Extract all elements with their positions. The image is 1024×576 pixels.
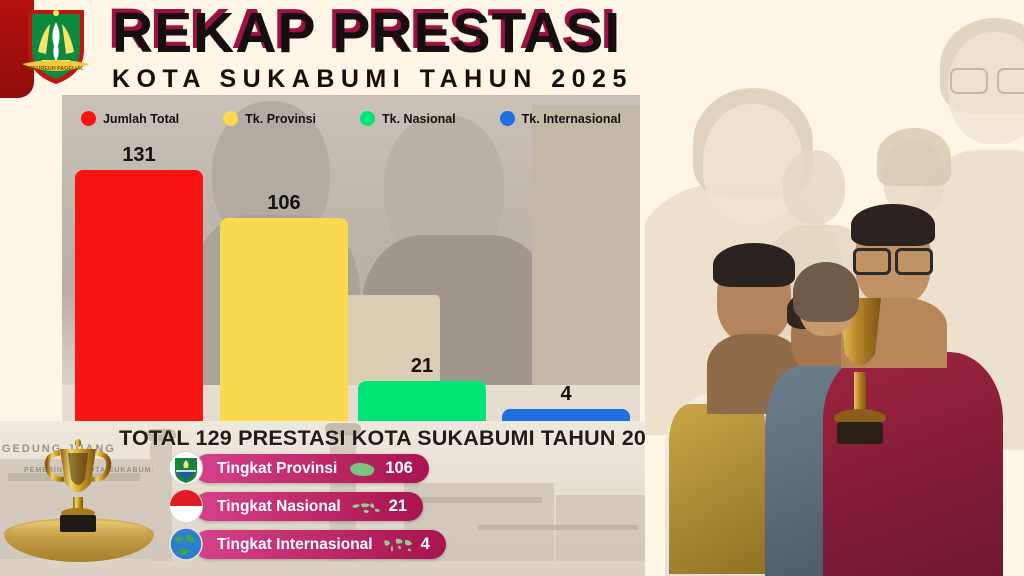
bar-value-label: 106: [220, 192, 348, 215]
world-map-icon: [383, 535, 413, 555]
poster-header: REKAP PRESTASI KOTA SUKABUMI TAHUN 2025: [112, 6, 682, 94]
page-subtitle: KOTA SUKABUMI TAHUN 2025: [112, 65, 682, 94]
summary-section: GEDUNG JUANG PEMERINTAH KOTA SUKABUMI: [0, 421, 645, 576]
ghost-glasses-left: [950, 68, 988, 94]
list-item: Tingkat Nasional 21: [167, 489, 567, 523]
infographic-poster: REUREUH PAGELUK REKAP PRESTASI KOTA SUKA…: [0, 0, 1024, 576]
pill-label: Tingkat Nasional: [194, 498, 341, 516]
achievement-rows: Tingkat Provinsi 106: [167, 451, 567, 565]
bar-value-label: 21: [358, 355, 486, 378]
page-title: REKAP PRESTASI: [112, 6, 682, 60]
award-ceremony-photo: [645, 0, 1024, 576]
bar-internasional: [502, 409, 630, 421]
list-item: Tingkat Provinsi 106: [167, 451, 567, 485]
bar-group-internasional: 4: [502, 95, 630, 421]
ghost-glasses-right: [997, 68, 1024, 94]
bar-total: [75, 170, 203, 421]
bar-chart-panel: Jumlah Total Tk. Provinsi Tk. Nasional T…: [62, 95, 640, 421]
bar-group-provinsi: 106: [220, 95, 348, 421]
globe-icon: [167, 527, 205, 561]
nasional-pill[interactable]: Tingkat Nasional 21: [194, 492, 423, 521]
sukabumi-city-emblem-icon: REUREUH PAGELUK: [20, 6, 92, 88]
bar-value-label: 131: [75, 144, 203, 167]
chart-bars: 131 106 21 4: [62, 95, 640, 421]
provinsi-pill[interactable]: Tingkat Provinsi 106: [194, 454, 429, 483]
bar-group-total: 131: [75, 95, 203, 421]
pill-value: 4: [421, 535, 430, 554]
gold-trophy-icon: [38, 439, 118, 534]
bar-nasional: [358, 381, 486, 421]
svg-text:REUREUH PAGELUK: REUREUH PAGELUK: [29, 66, 83, 72]
pill-label: Tingkat Internasional: [194, 536, 373, 554]
ghost-headscarf: [877, 128, 951, 186]
west-java-emblem-icon: [167, 451, 205, 485]
ghost-face-2: [783, 150, 845, 224]
list-item: Tingkat Internasional 4: [167, 527, 567, 561]
west-java-map-icon: [347, 459, 377, 479]
pill-label: Tingkat Provinsi: [194, 460, 337, 478]
pill-value: 106: [385, 459, 413, 478]
pill-value: 21: [389, 497, 407, 516]
bar-value-label: 4: [502, 383, 630, 406]
total-summary-line: TOTAL 129 PRESTASI KOTA SUKABUMI TAHUN 2…: [119, 426, 645, 451]
bar-provinsi: [220, 218, 348, 421]
internasional-pill[interactable]: Tingkat Internasional 4: [194, 530, 446, 559]
bar-group-nasional: 21: [358, 95, 486, 421]
indonesia-flag-icon: [167, 489, 205, 523]
indonesia-map-icon: [351, 497, 381, 517]
